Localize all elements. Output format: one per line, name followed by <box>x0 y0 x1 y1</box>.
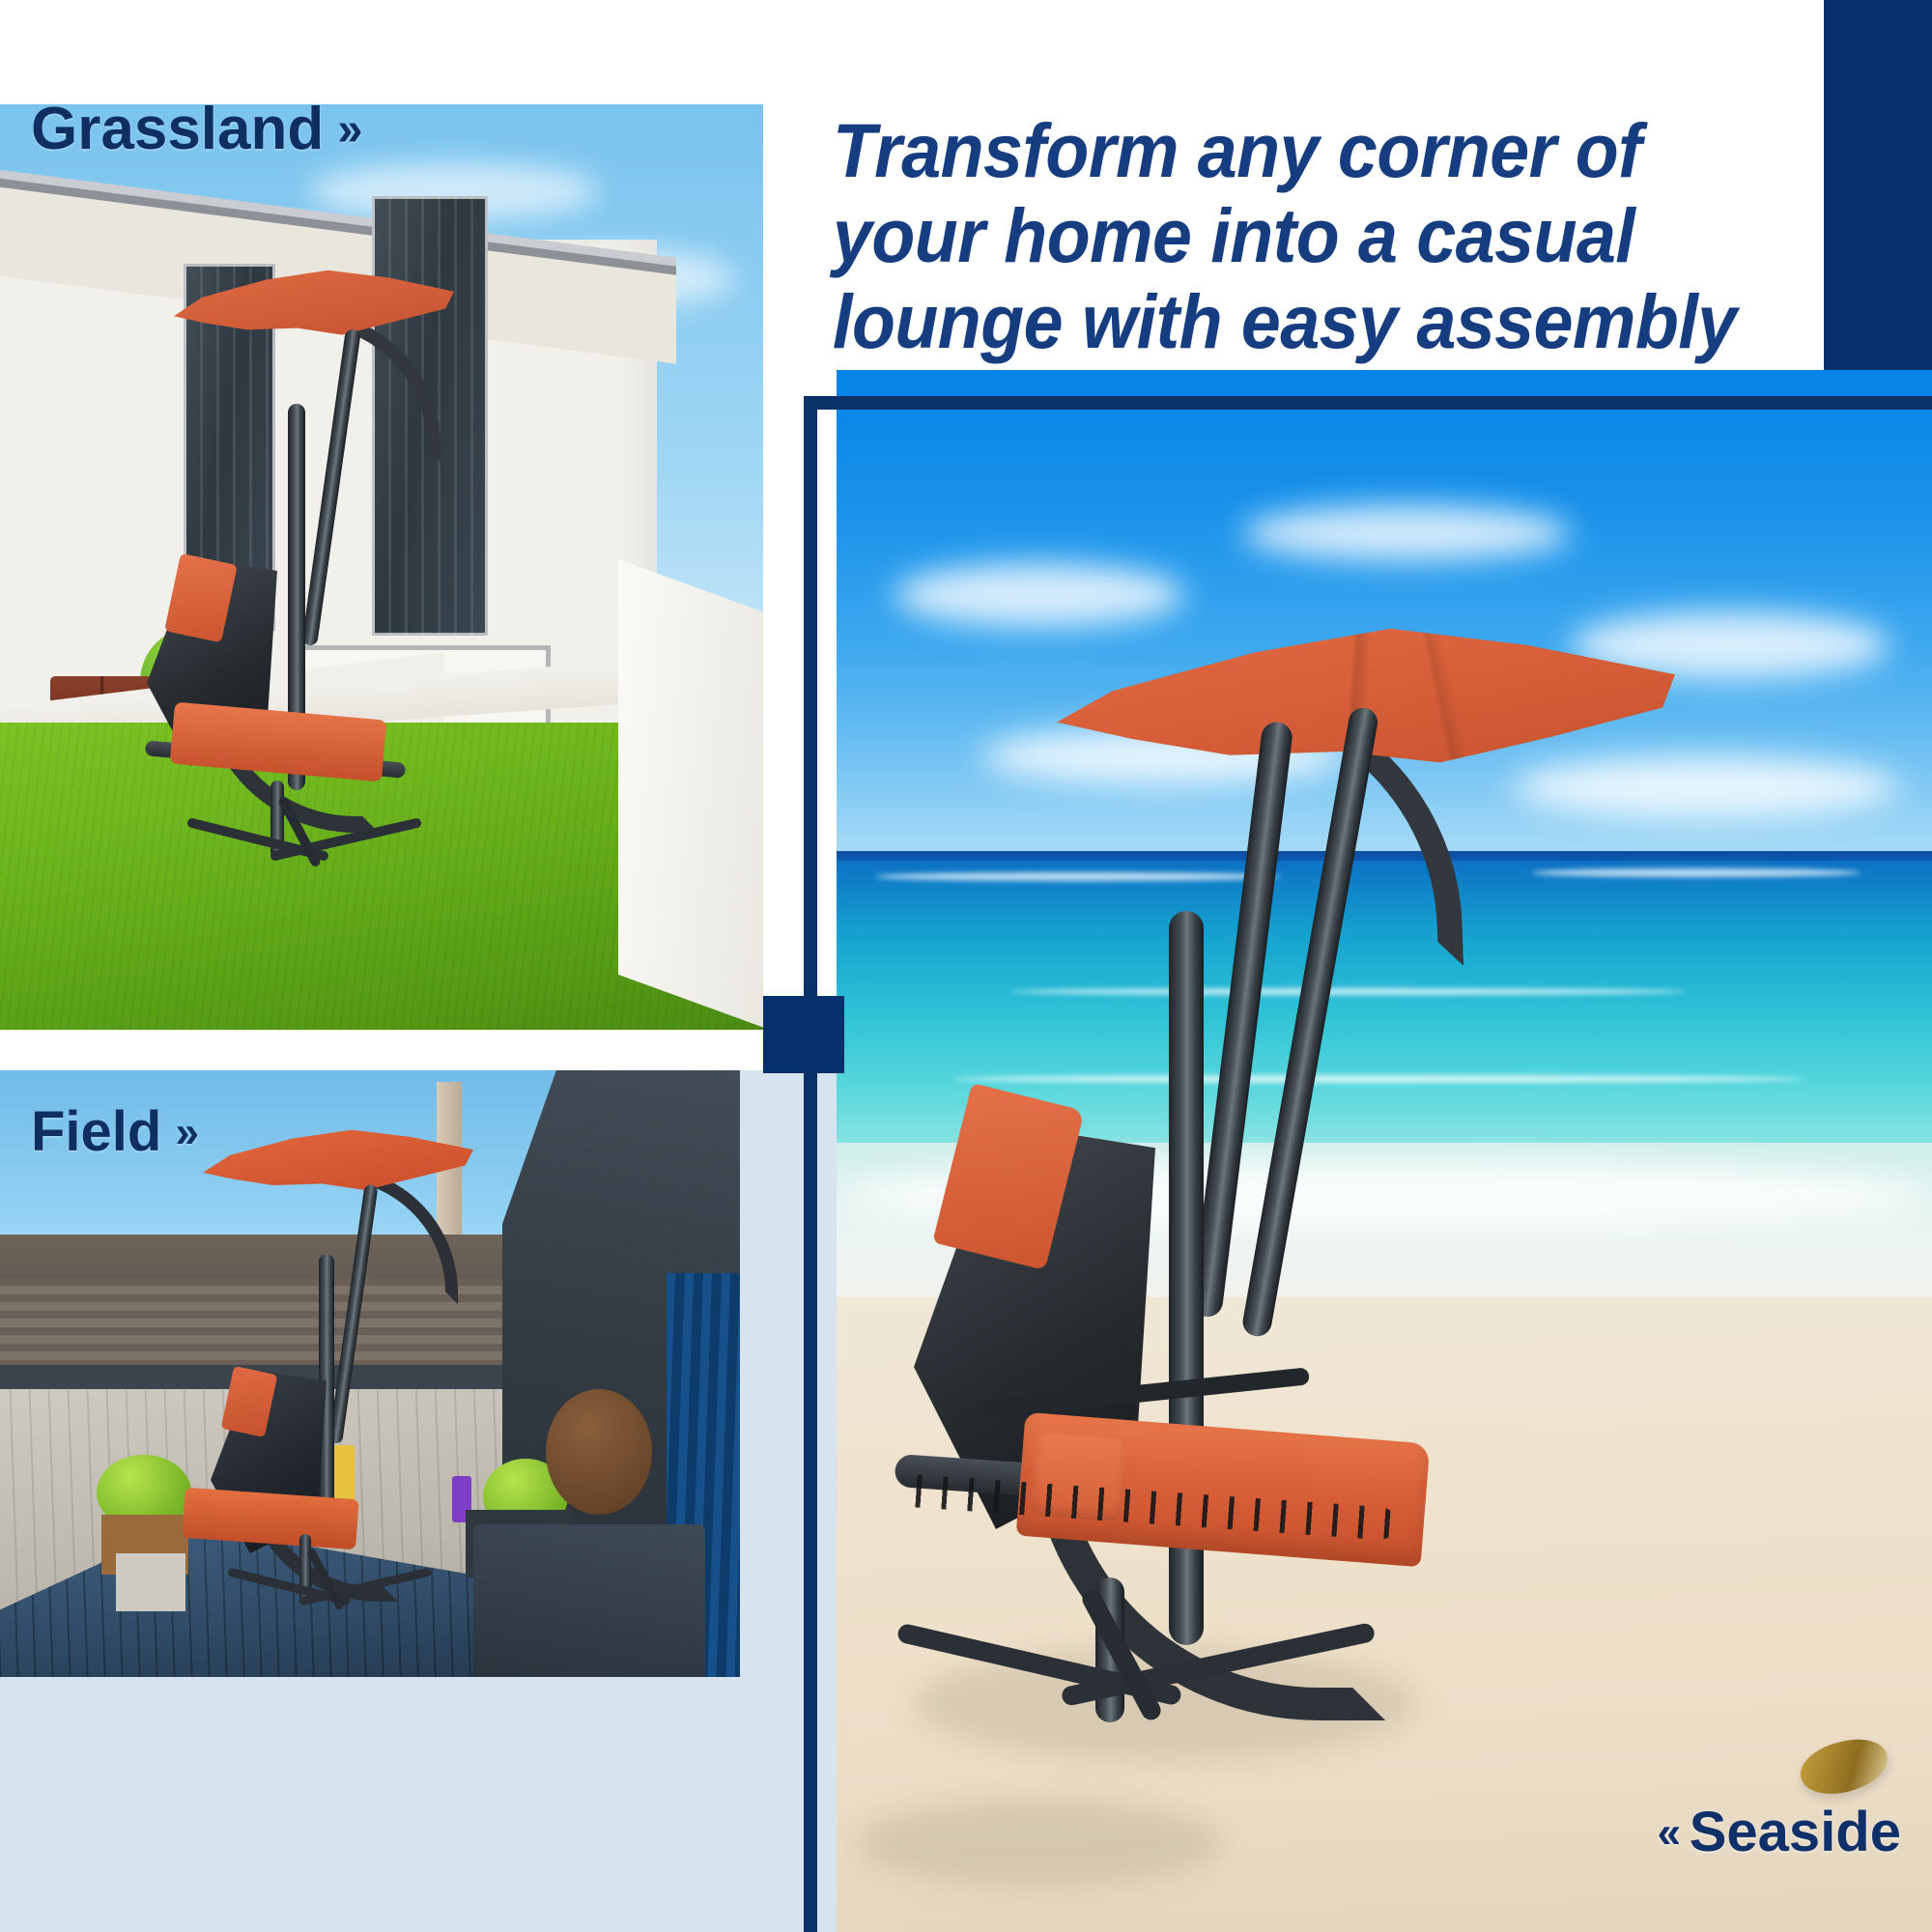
tree <box>546 1389 652 1515</box>
seaside-photo-frame <box>804 396 1932 1932</box>
scene-label-grassland-text: Grassland <box>31 95 324 163</box>
chevron-right-icon: ›› <box>175 1107 193 1157</box>
frame-arc <box>288 311 440 462</box>
retaining-wall <box>618 559 763 1030</box>
scene-label-field-text: Field <box>31 1099 161 1164</box>
scene-label-grassland[interactable]: Grassland ›› <box>31 95 357 163</box>
banner-canvas: Transform any corner of your home into a… <box>0 0 1932 1932</box>
headline-line-2: your home into a casual <box>833 193 1731 278</box>
headline-line-3: lounge with easy assembly <box>833 279 1731 364</box>
outdoor-sofa <box>473 1524 705 1677</box>
product-hanging-chair-field <box>174 1128 493 1631</box>
frame-arc <box>317 1167 458 1304</box>
chevron-right-icon: ›› <box>337 102 357 156</box>
product-hanging-chair-grassland <box>126 269 531 887</box>
navy-corner-band <box>1824 0 1932 404</box>
navy-square-accent <box>763 996 844 1073</box>
scene-label-field[interactable]: Field ›› <box>31 1099 194 1164</box>
seat-cushion <box>182 1488 358 1549</box>
scene-photo-grassland <box>0 104 763 1030</box>
headline-line-1: Transform any corner of <box>833 108 1731 193</box>
headline-text: Transform any corner of your home into a… <box>833 108 1731 364</box>
